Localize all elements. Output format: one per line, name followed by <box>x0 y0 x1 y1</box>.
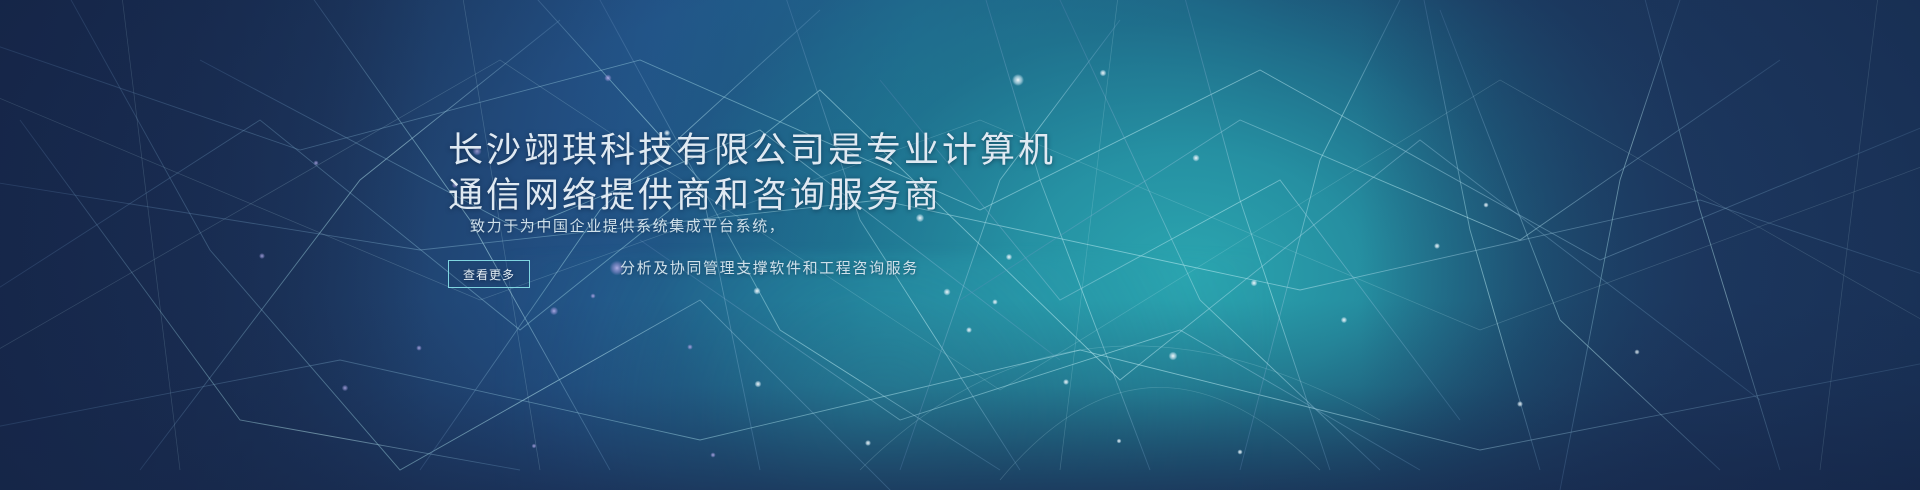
view-more-button[interactable]: 查看更多 <box>448 260 530 288</box>
hero-headline: 长沙翊琪科技有限公司是专业计算机 通信网络提供商和咨询服务商 <box>448 128 1148 218</box>
hero-headline-line2: 通信网络提供商和咨询服务商 <box>448 173 1148 218</box>
view-more-button-label: 查看更多 <box>463 266 515 283</box>
hero-banner: 长沙翊琪科技有限公司是专业计算机 通信网络提供商和咨询服务商 致力于为中国企业提… <box>0 0 1920 490</box>
hero-subtitle-line1: 致力于为中国企业提供系统集成平台系统， <box>470 215 785 236</box>
hero-headline-line1: 长沙翊琪科技有限公司是专业计算机 <box>448 131 1056 170</box>
hero-subtitle-line2: 分析及协同管理支撑软件和工程咨询服务 <box>620 257 919 278</box>
hero-content: 长沙翊琪科技有限公司是专业计算机 通信网络提供商和咨询服务商 致力于为中国企业提… <box>0 0 1920 490</box>
